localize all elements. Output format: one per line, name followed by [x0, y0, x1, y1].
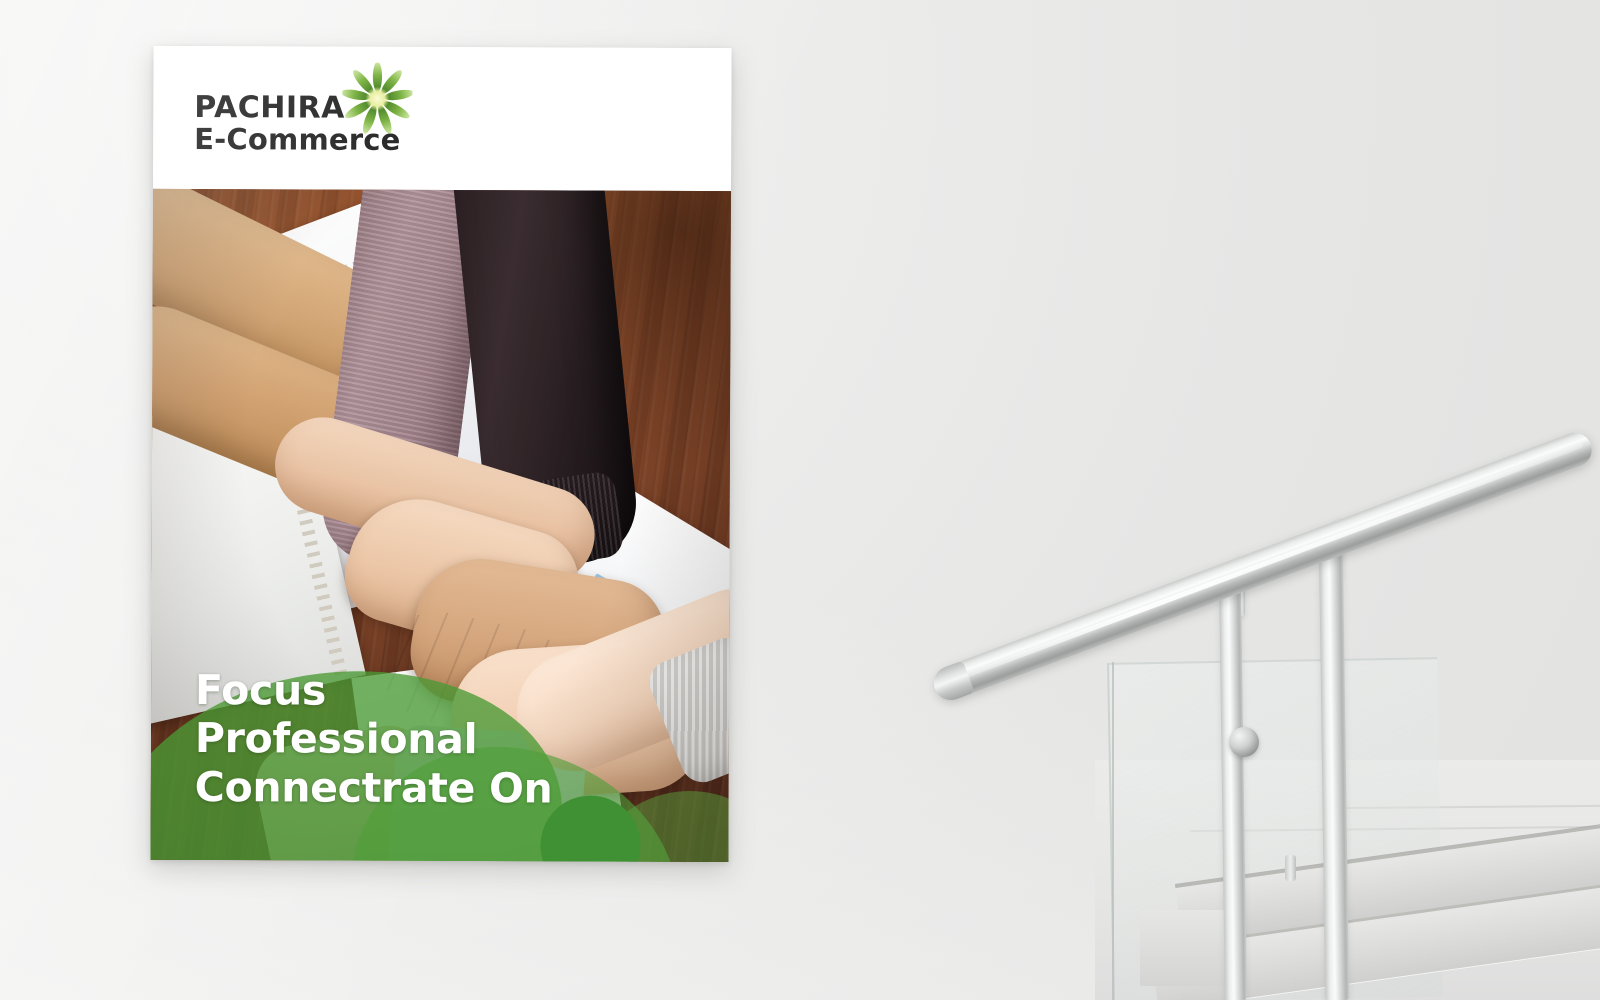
baluster-knob — [1229, 727, 1259, 757]
handrail-specular-highlight — [949, 443, 1583, 684]
headline-line-1: Focus — [195, 666, 553, 716]
post-base-plate — [1140, 910, 1228, 986]
wall-bracket — [1285, 855, 1296, 881]
headline-line-3: Connectrate On — [195, 763, 553, 813]
scene-root: PACHIRA E-Commerce — [0, 0, 1600, 1000]
poster-header-band: PACHIRA E-Commerce — [153, 46, 732, 191]
headline-line-2: Professional — [195, 714, 553, 764]
poster-photograph: Focus Professional Connectrate On — [150, 189, 731, 862]
flower-starburst-icon — [342, 63, 412, 135]
baluster-post-left — [1219, 588, 1247, 1000]
glass-panel-edge — [1112, 662, 1114, 1000]
baluster-post-right — [1319, 540, 1349, 1000]
wall-poster: PACHIRA E-Commerce — [150, 46, 731, 862]
poster-headline: Focus Professional Connectrate On — [195, 666, 553, 814]
brand-lockup: PACHIRA E-Commerce — [194, 92, 401, 155]
